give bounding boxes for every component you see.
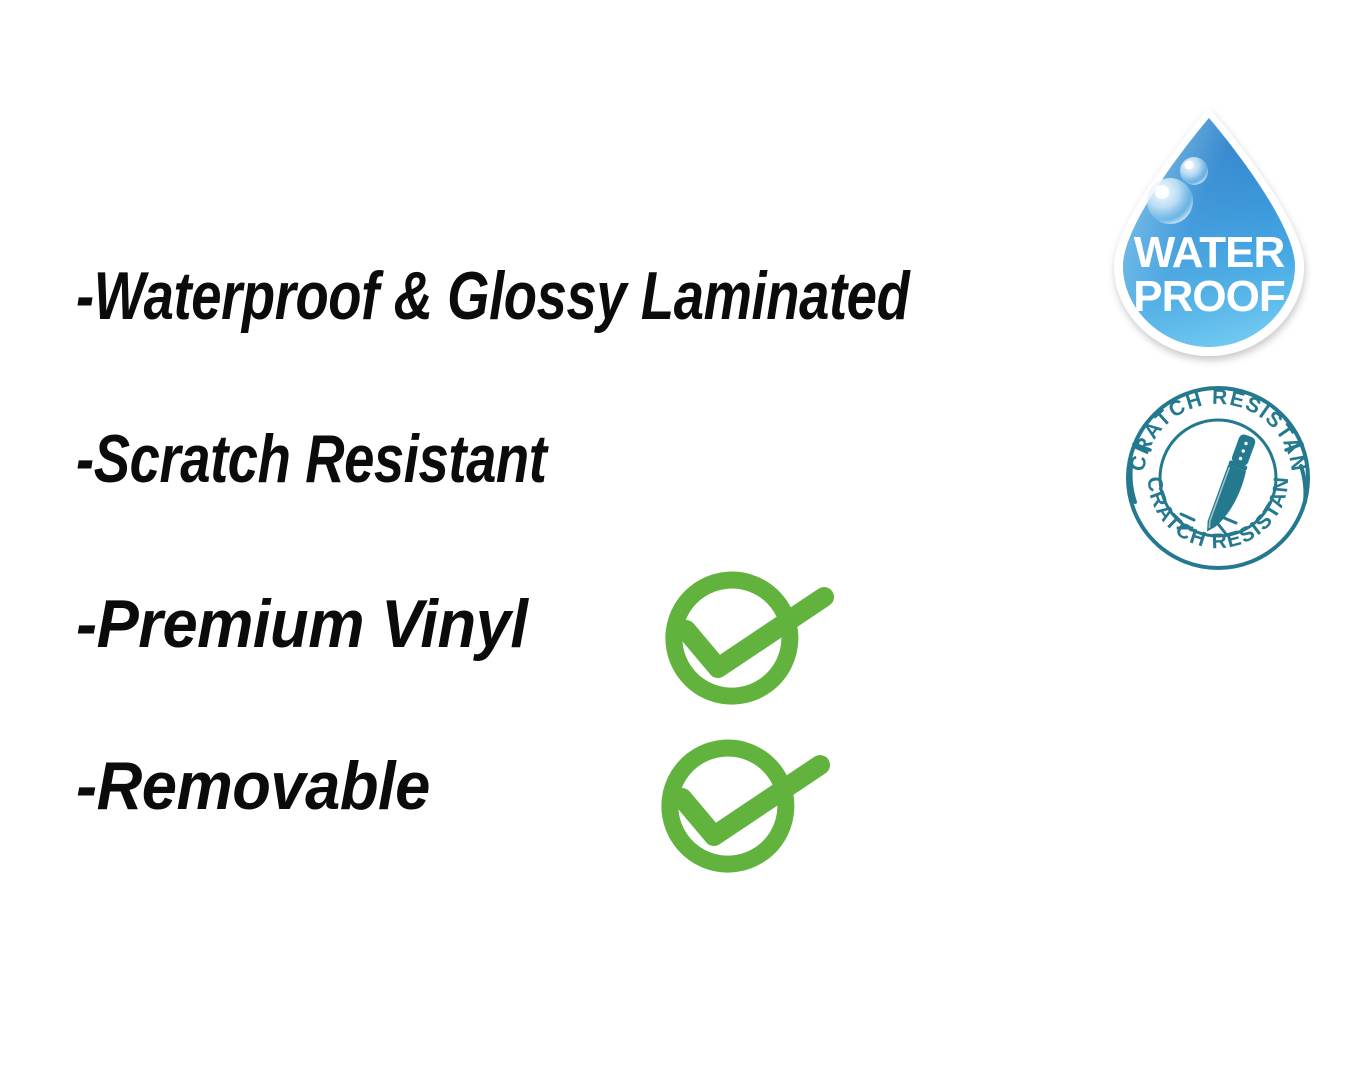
waterproof-badge: WATER PROOF WATER PROOF — [1098, 104, 1320, 364]
feature-item-waterproof-glossy-laminated: -Waterproof & Glossy Laminated — [76, 262, 909, 330]
feature-list-graphic: -Waterproof & Glossy Laminated -Scratch … — [0, 0, 1359, 1080]
bubble-large — [1147, 178, 1193, 224]
waterproof-line2: PROOF — [1133, 272, 1285, 321]
bubble-small — [1180, 157, 1208, 185]
scratch-resistant-badge: SCRATCH RESISTANT SCRATCH RESISTANT — [1122, 382, 1314, 574]
green-check-circle-icon — [638, 556, 838, 706]
feature-item-removable: -Removable — [76, 752, 430, 820]
feature-item-premium-vinyl: -Premium Vinyl — [76, 590, 528, 658]
feature-item-scratch-resistant: -Scratch Resistant — [76, 425, 546, 493]
waterproof-line1: WATER — [1134, 228, 1285, 277]
green-check-circle-icon — [634, 724, 834, 874]
